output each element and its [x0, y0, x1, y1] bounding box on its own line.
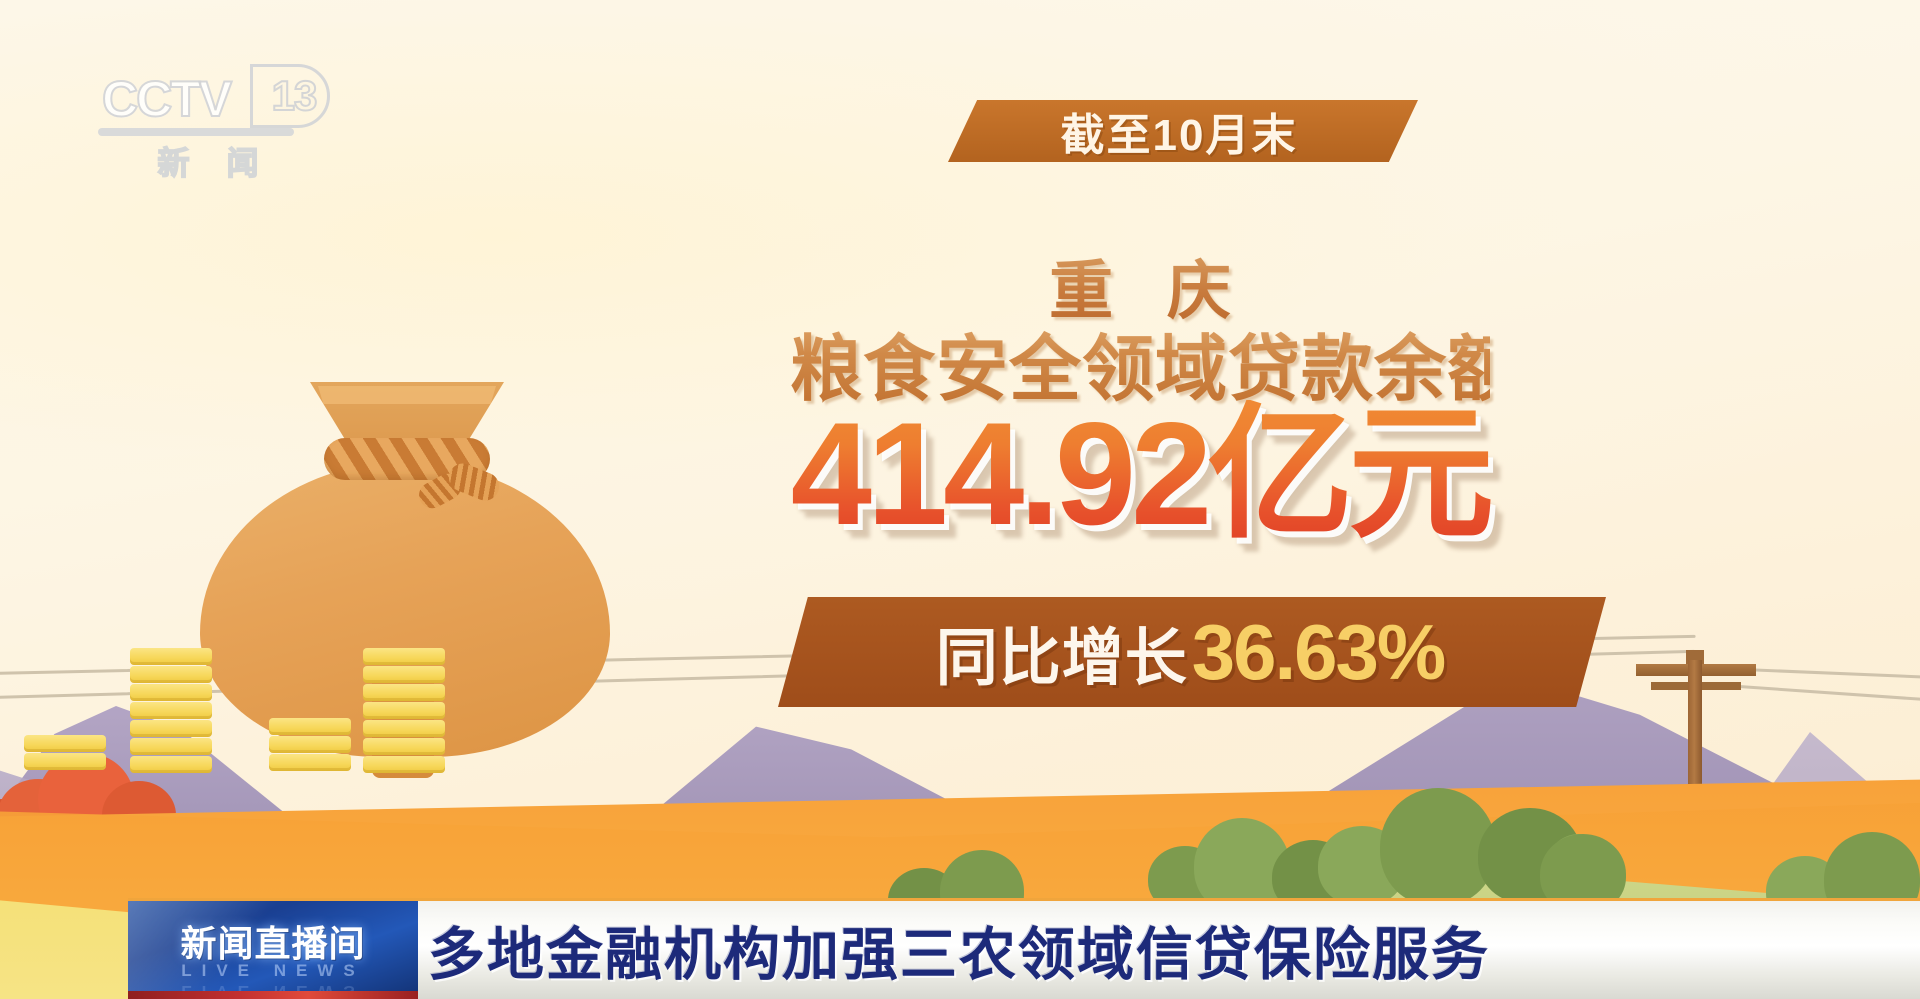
- coin-stack-1-icon: [24, 717, 106, 773]
- coin-stack-2-icon: [130, 648, 212, 774]
- channel-number-badge: 13: [250, 64, 330, 128]
- news-ticker-bar: 多地金融机构加强三农领域信贷保险服务 新闻直播间 LIVE NEWS LIVE …: [0, 898, 1920, 999]
- broadcast-frame: CCTV 13 新 闻 截至10月末 重 庆 粮食安全领域贷款余额 414.92…: [0, 0, 1920, 999]
- growth-value: 36.63%: [1192, 607, 1445, 698]
- cctv13-logo: CCTV 13 新 闻: [98, 62, 328, 182]
- logo-underline: [98, 128, 294, 136]
- date-banner-label: 截至10月末: [1061, 99, 1298, 163]
- coin-stack-4-icon: [363, 642, 445, 774]
- growth-banner: 同比增长 36.63%: [778, 597, 1606, 707]
- growth-label: 同比增长: [936, 607, 1188, 697]
- money-bag-illustration: [172, 380, 642, 800]
- program-logo-red-strip: [128, 991, 418, 999]
- channel-name-label: 新 闻: [140, 138, 290, 184]
- money-bag-knot-icon: [418, 464, 502, 520]
- program-name-cn: 新闻直播间: [128, 915, 418, 967]
- coin-stack-3-icon: [269, 710, 351, 774]
- cctv-wordmark: CCTV: [102, 70, 230, 128]
- program-name-en: LIVE NEWS: [128, 961, 418, 981]
- money-bag-neck-highlight-icon: [318, 386, 496, 404]
- channel-number: 13: [272, 72, 317, 120]
- headline-text: 多地金融机构加强三农领域信贷保险服务: [428, 909, 1490, 991]
- metric-value: 414.92亿元: [760, 400, 1520, 549]
- date-banner: 截至10月末: [948, 100, 1418, 162]
- program-logo-panel: 新闻直播间 LIVE NEWS LIVE NEWS: [128, 898, 418, 999]
